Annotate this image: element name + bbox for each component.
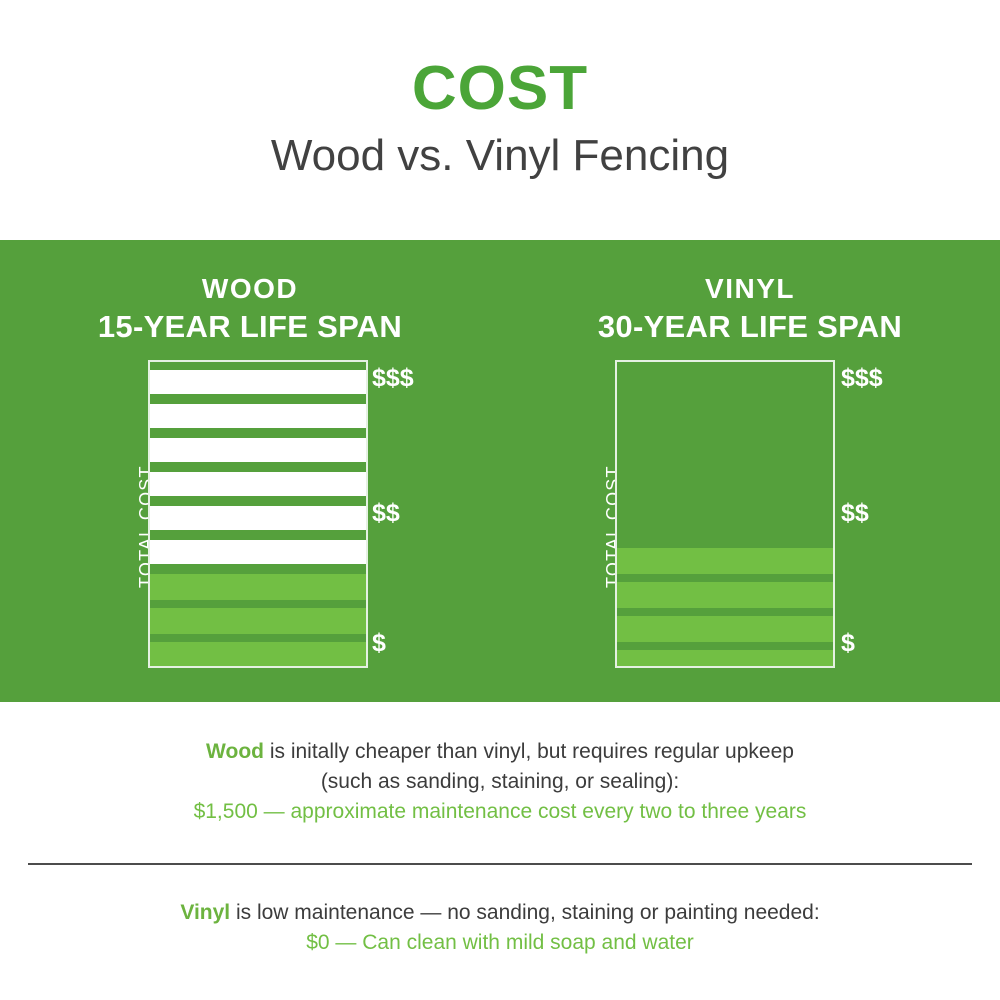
bar-band-upkeep [150,506,366,530]
bar-band-base [617,582,833,608]
header: COST Wood vs. Vinyl Fencing [0,0,1000,240]
note-vinyl-amount: $0 [306,931,329,954]
tick-label-vinyl-3: $$$ [841,366,883,391]
note-vinyl-line2: $0 — Can clean with mild soap and water [0,928,1000,958]
column-material-wood: WOOD [0,274,500,305]
page-subtitle: Wood vs. Vinyl Fencing [0,120,1000,178]
note-wood: Wood is initally cheaper than vinyl, but… [0,737,1000,827]
note-wood-line1: Wood is initally cheaper than vinyl, but… [0,737,1000,767]
bar-band-base [150,574,366,600]
bar-band-upkeep [150,472,366,496]
tick-label-wood-1: $ [372,631,386,656]
note-vinyl-line1: Vinyl is low maintenance — no sanding, s… [0,898,1000,928]
note-wood-line3-rest: — approximate maintenance cost every two… [258,800,807,823]
column-lifespan-vinyl: 30-YEAR LIFE SPAN [500,308,1000,345]
bar-vinyl [615,360,835,668]
bar-band-base [617,548,833,574]
section-divider [28,863,972,865]
note-vinyl-line1-rest: is low maintenance — no sanding, stainin… [230,901,820,924]
note-wood-line3: $1,500 — approximate maintenance cost ev… [0,797,1000,827]
bar-band-upkeep [150,540,366,564]
bar-band-upkeep [150,370,366,394]
note-wood-keyword: Wood [206,740,264,763]
note-vinyl-line2-rest: — Can clean with mild soap and water [330,931,694,954]
note-wood-line1-rest: is initally cheaper than vinyl, but requ… [264,740,794,763]
column-lifespan-wood: 15-YEAR LIFE SPAN [0,308,500,345]
bar-band-base [617,616,833,642]
page-title: COST [0,0,1000,120]
note-wood-amount: $1,500 [194,800,258,823]
bar-band-upkeep [150,438,366,462]
bar-wood [148,360,368,668]
note-wood-line2: (such as sanding, staining, or sealing): [0,767,1000,797]
column-heading-vinyl: VINYL 30-YEAR LIFE SPAN [500,274,1000,345]
note-vinyl-keyword: Vinyl [180,901,230,924]
column-material-vinyl: VINYL [500,274,1000,305]
bar-band-base [150,642,366,666]
footer: Wood is initally cheaper than vinyl, but… [0,702,1000,1000]
bar-band-base [617,650,833,666]
tick-label-wood-2: $$ [372,501,400,526]
tick-label-wood-3: $$$ [372,366,414,391]
tick-label-vinyl-1: $ [841,631,855,656]
bar-band-upkeep [150,404,366,428]
column-heading-wood: WOOD 15-YEAR LIFE SPAN [0,274,500,345]
bar-band-base [150,608,366,634]
tick-label-vinyl-2: $$ [841,501,869,526]
note-vinyl: Vinyl is low maintenance — no sanding, s… [0,898,1000,958]
